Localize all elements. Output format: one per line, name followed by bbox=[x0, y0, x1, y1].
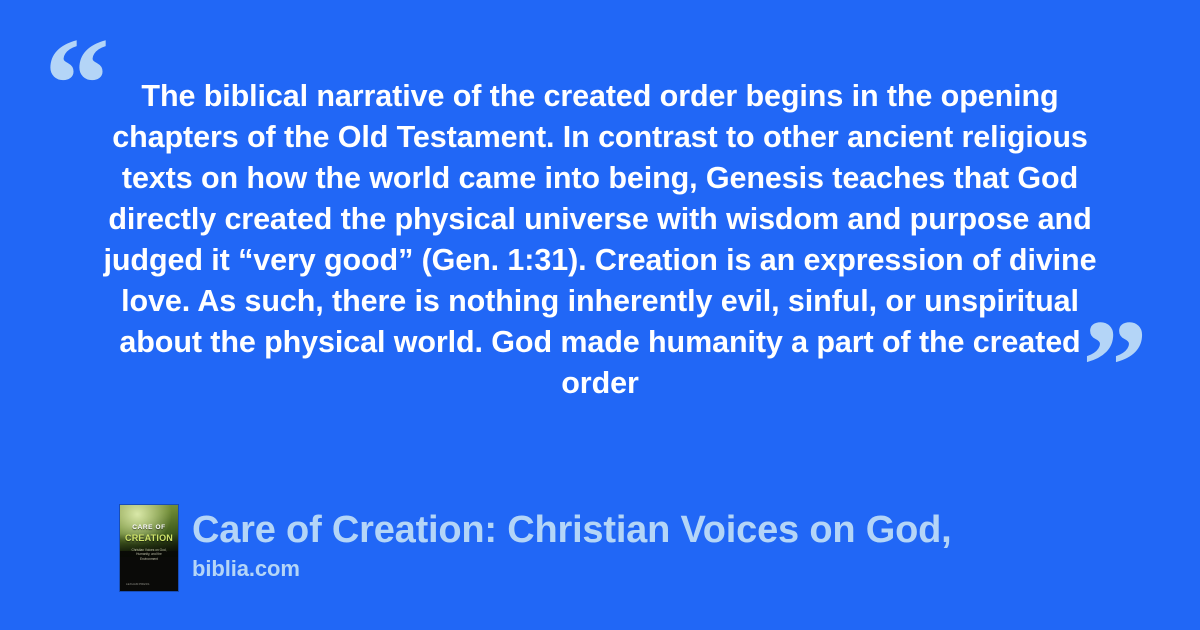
quote-text: The biblical narrative of the created or… bbox=[96, 76, 1104, 404]
attribution-footer: CARE OF CREATION Christian Voices on God… bbox=[120, 505, 951, 591]
quote-block: “ The biblical narrative of the created … bbox=[0, 0, 1200, 470]
quote-card: “ The biblical narrative of the created … bbox=[0, 0, 1200, 630]
site-name: biblia.com bbox=[192, 555, 951, 583]
book-cover-title-line-1: CARE OF bbox=[132, 524, 165, 531]
attribution-text-group: Care of Creation: Christian Voices on Go… bbox=[192, 505, 951, 583]
book-cover-publisher: LEXHAM PRESS bbox=[126, 582, 149, 586]
book-cover-title-line-2: CREATION bbox=[125, 533, 173, 543]
book-cover-thumbnail: CARE OF CREATION Christian Voices on God… bbox=[120, 505, 178, 591]
book-title: Care of Creation: Christian Voices on Go… bbox=[192, 507, 951, 553]
close-quote-icon: ” bbox=[1082, 300, 1148, 432]
book-cover-subtitle: Christian Voices on God, Humanity, and t… bbox=[129, 548, 170, 561]
